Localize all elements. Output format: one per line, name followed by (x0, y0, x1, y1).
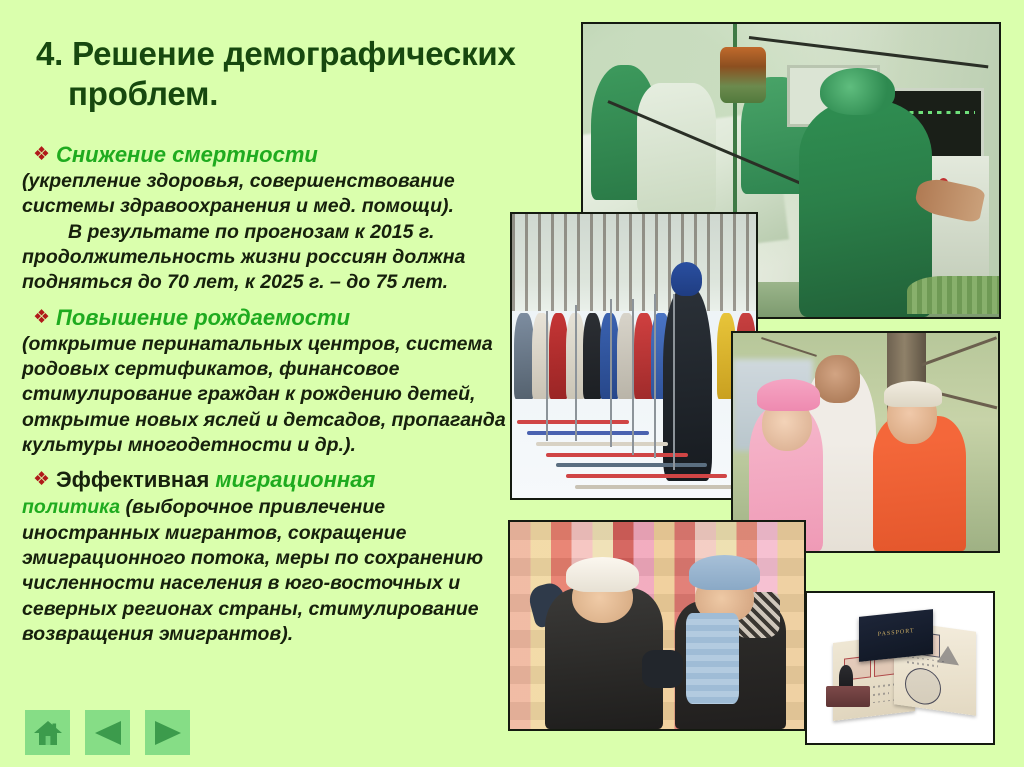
bullet-item-birthrate: ❖ Повышение рождаемости (открытие перина… (22, 305, 514, 459)
heading-part-plain: Эффективная (56, 467, 215, 492)
forward-button[interactable] (145, 710, 190, 755)
ski-pole (575, 305, 577, 441)
photo-passport-with-stamps: PASSPORT (805, 591, 995, 745)
baby-pink-hat (757, 379, 821, 412)
visa-stamp-circle (906, 666, 942, 707)
passport-cover: PASSPORT (859, 609, 933, 662)
ski-pole (610, 299, 612, 447)
ski (536, 442, 668, 446)
iv-bag (720, 47, 766, 103)
bullet-heading: Повышение рождаемости (56, 305, 350, 331)
bullet-heading: Эффективная миграционная (56, 467, 375, 493)
skier-crowd (512, 299, 756, 398)
triangle-left-icon (93, 720, 123, 746)
black-glove (642, 650, 683, 687)
photo-women-at-clothing-market (508, 520, 806, 731)
bullet-heading-row: ❖ Снижение смертности (22, 142, 514, 168)
mother-cap (884, 381, 942, 407)
ventilator-hose (907, 276, 999, 314)
blue-knit-scarf (686, 613, 739, 704)
photo-cross-country-skiers (510, 212, 758, 500)
paragraph-text: (выборочное привлечение иностранных мигр… (22, 496, 483, 645)
back-button[interactable] (85, 710, 130, 755)
ski (546, 453, 688, 457)
ski (517, 420, 629, 424)
rubber-stamp-base (826, 686, 871, 707)
bullet-paragraph: политика (выборочное привлечение иностра… (22, 495, 514, 647)
ski (527, 431, 649, 435)
diamond-bullet-icon: ❖ (22, 305, 56, 331)
bullet-item-mortality: ❖ Снижение смертности (укрепление здоров… (22, 142, 514, 296)
title-line-1: 4. Решение демографических (36, 35, 516, 72)
surgical-cap (820, 68, 895, 115)
skier-hat (671, 262, 703, 296)
passport-cover-text: PASSPORT (859, 626, 933, 640)
heading-part-accent-2: политика (22, 496, 120, 518)
bullet-heading-row: ❖ Эффективная миграционная (22, 467, 514, 493)
ski (575, 485, 746, 489)
woman-right-blue-hat (689, 555, 760, 590)
visa-stamp-triangle (937, 645, 959, 666)
bullet-paragraph: (открытие перинатальных центров, система… (22, 332, 514, 459)
ski-pole (546, 311, 548, 442)
heading-part-accent: миграционная (215, 467, 375, 492)
diamond-bullet-icon: ❖ (22, 142, 56, 168)
ski-set (512, 407, 756, 498)
paragraph-text: В результате по прогнозам к 2015 г. прод… (22, 221, 465, 294)
ski-pole (632, 299, 634, 455)
bullet-heading-row: ❖ Повышение рождаемости (22, 305, 514, 331)
ski-pole (673, 294, 675, 470)
passport-text-line (907, 662, 938, 668)
page-title: 4. Решение демографических проблем. (36, 34, 676, 115)
ski (566, 474, 727, 478)
father-head (815, 355, 860, 403)
home-button[interactable] (25, 710, 70, 755)
woman-left-white-hat (566, 557, 640, 592)
triangle-right-icon (153, 720, 183, 746)
winter-forest (512, 214, 756, 311)
title-line-2: проблем. (36, 74, 676, 114)
ski-pole (654, 294, 656, 459)
home-icon (33, 719, 63, 747)
bullet-list: ❖ Снижение смертности (укрепление здоров… (22, 142, 514, 657)
bullet-paragraph: В результате по прогнозам к 2015 г. прод… (22, 220, 514, 296)
ski (556, 463, 707, 467)
presentation-slide: 4. Решение демографических проблем. ❖ Сн… (0, 0, 1024, 767)
bullet-item-migration: ❖ Эффективная миграционная политика (выб… (22, 467, 514, 647)
bullet-heading: Снижение смертности (56, 142, 318, 168)
diamond-bullet-icon: ❖ (22, 467, 56, 493)
bullet-paragraph: (укрепление здоровья, совершенствование … (22, 169, 514, 220)
slide-navigation (25, 710, 190, 755)
